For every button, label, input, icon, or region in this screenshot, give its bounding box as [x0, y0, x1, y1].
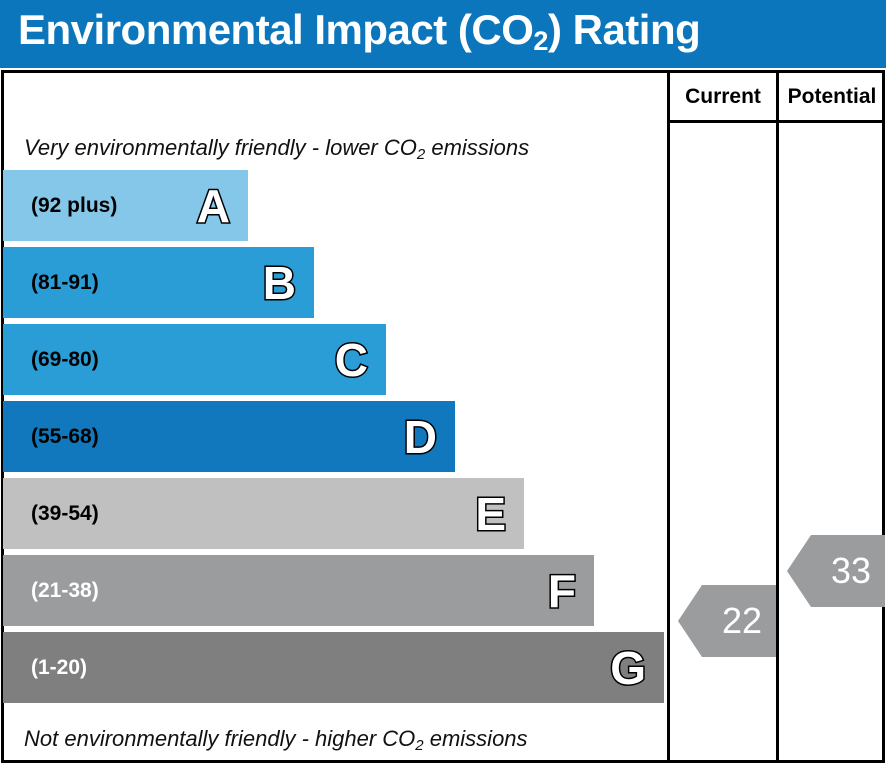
caption-bottom-pre: Not environmentally friendly - higher CO [24, 726, 415, 751]
band-letter-f: F [548, 568, 576, 614]
rating-band-f: (21-38)F [3, 555, 594, 626]
band-range-label-g: (1-20) [31, 656, 87, 680]
rating-band-g: (1-20)G [3, 632, 664, 703]
band-letter-d: D [404, 414, 437, 460]
caption-bottom-post: emissions [424, 726, 528, 751]
rating-band-c: (69-80)C [3, 324, 386, 395]
column-header-potential: Potential [779, 85, 885, 109]
band-letter-c: C [335, 337, 368, 383]
column-header-current: Current [670, 85, 776, 109]
page-title-main: Environmental Impact (CO [18, 6, 533, 53]
caption-top-pre: Very environmentally friendly - lower CO [24, 135, 417, 160]
page-title: Environmental Impact (CO2) Rating [18, 6, 700, 54]
column-divider-left [667, 70, 670, 763]
band-range-label-b: (81-91) [31, 271, 99, 295]
page-title-subscript: 2 [533, 26, 548, 56]
caption-top: Very environmentally friendly - lower CO… [24, 135, 529, 161]
rating-band-d: (55-68)D [3, 401, 455, 472]
caption-bottom: Not environmentally friendly - higher CO… [24, 726, 528, 752]
current-rating-value: 22 [722, 603, 762, 639]
column-divider-right [776, 70, 779, 763]
band-range-label-d: (55-68) [31, 425, 99, 449]
band-range-label-f: (21-38) [31, 579, 99, 603]
band-letter-g: G [610, 645, 646, 691]
rating-band-a: (92 plus)A [3, 170, 248, 241]
column-header-divider [667, 120, 885, 123]
potential-rating-value: 33 [831, 553, 871, 589]
caption-top-subscript: 2 [417, 146, 425, 163]
band-range-label-a: (92 plus) [31, 194, 117, 218]
epc-environmental-impact-chart: Environmental Impact (CO2) Rating Curren… [0, 0, 886, 764]
band-letter-e: E [475, 491, 506, 537]
band-range-label-e: (39-54) [31, 502, 99, 526]
band-letter-a: A [197, 183, 230, 229]
chart-header-banner: Environmental Impact (CO2) Rating [0, 0, 886, 68]
rating-band-e: (39-54)E [3, 478, 524, 549]
caption-bottom-subscript: 2 [415, 737, 423, 754]
rating-band-b: (81-91)B [3, 247, 314, 318]
caption-top-post: emissions [425, 135, 529, 160]
band-letter-b: B [263, 260, 296, 306]
band-range-label-c: (69-80) [31, 348, 99, 372]
page-title-tail: ) Rating [548, 6, 700, 53]
